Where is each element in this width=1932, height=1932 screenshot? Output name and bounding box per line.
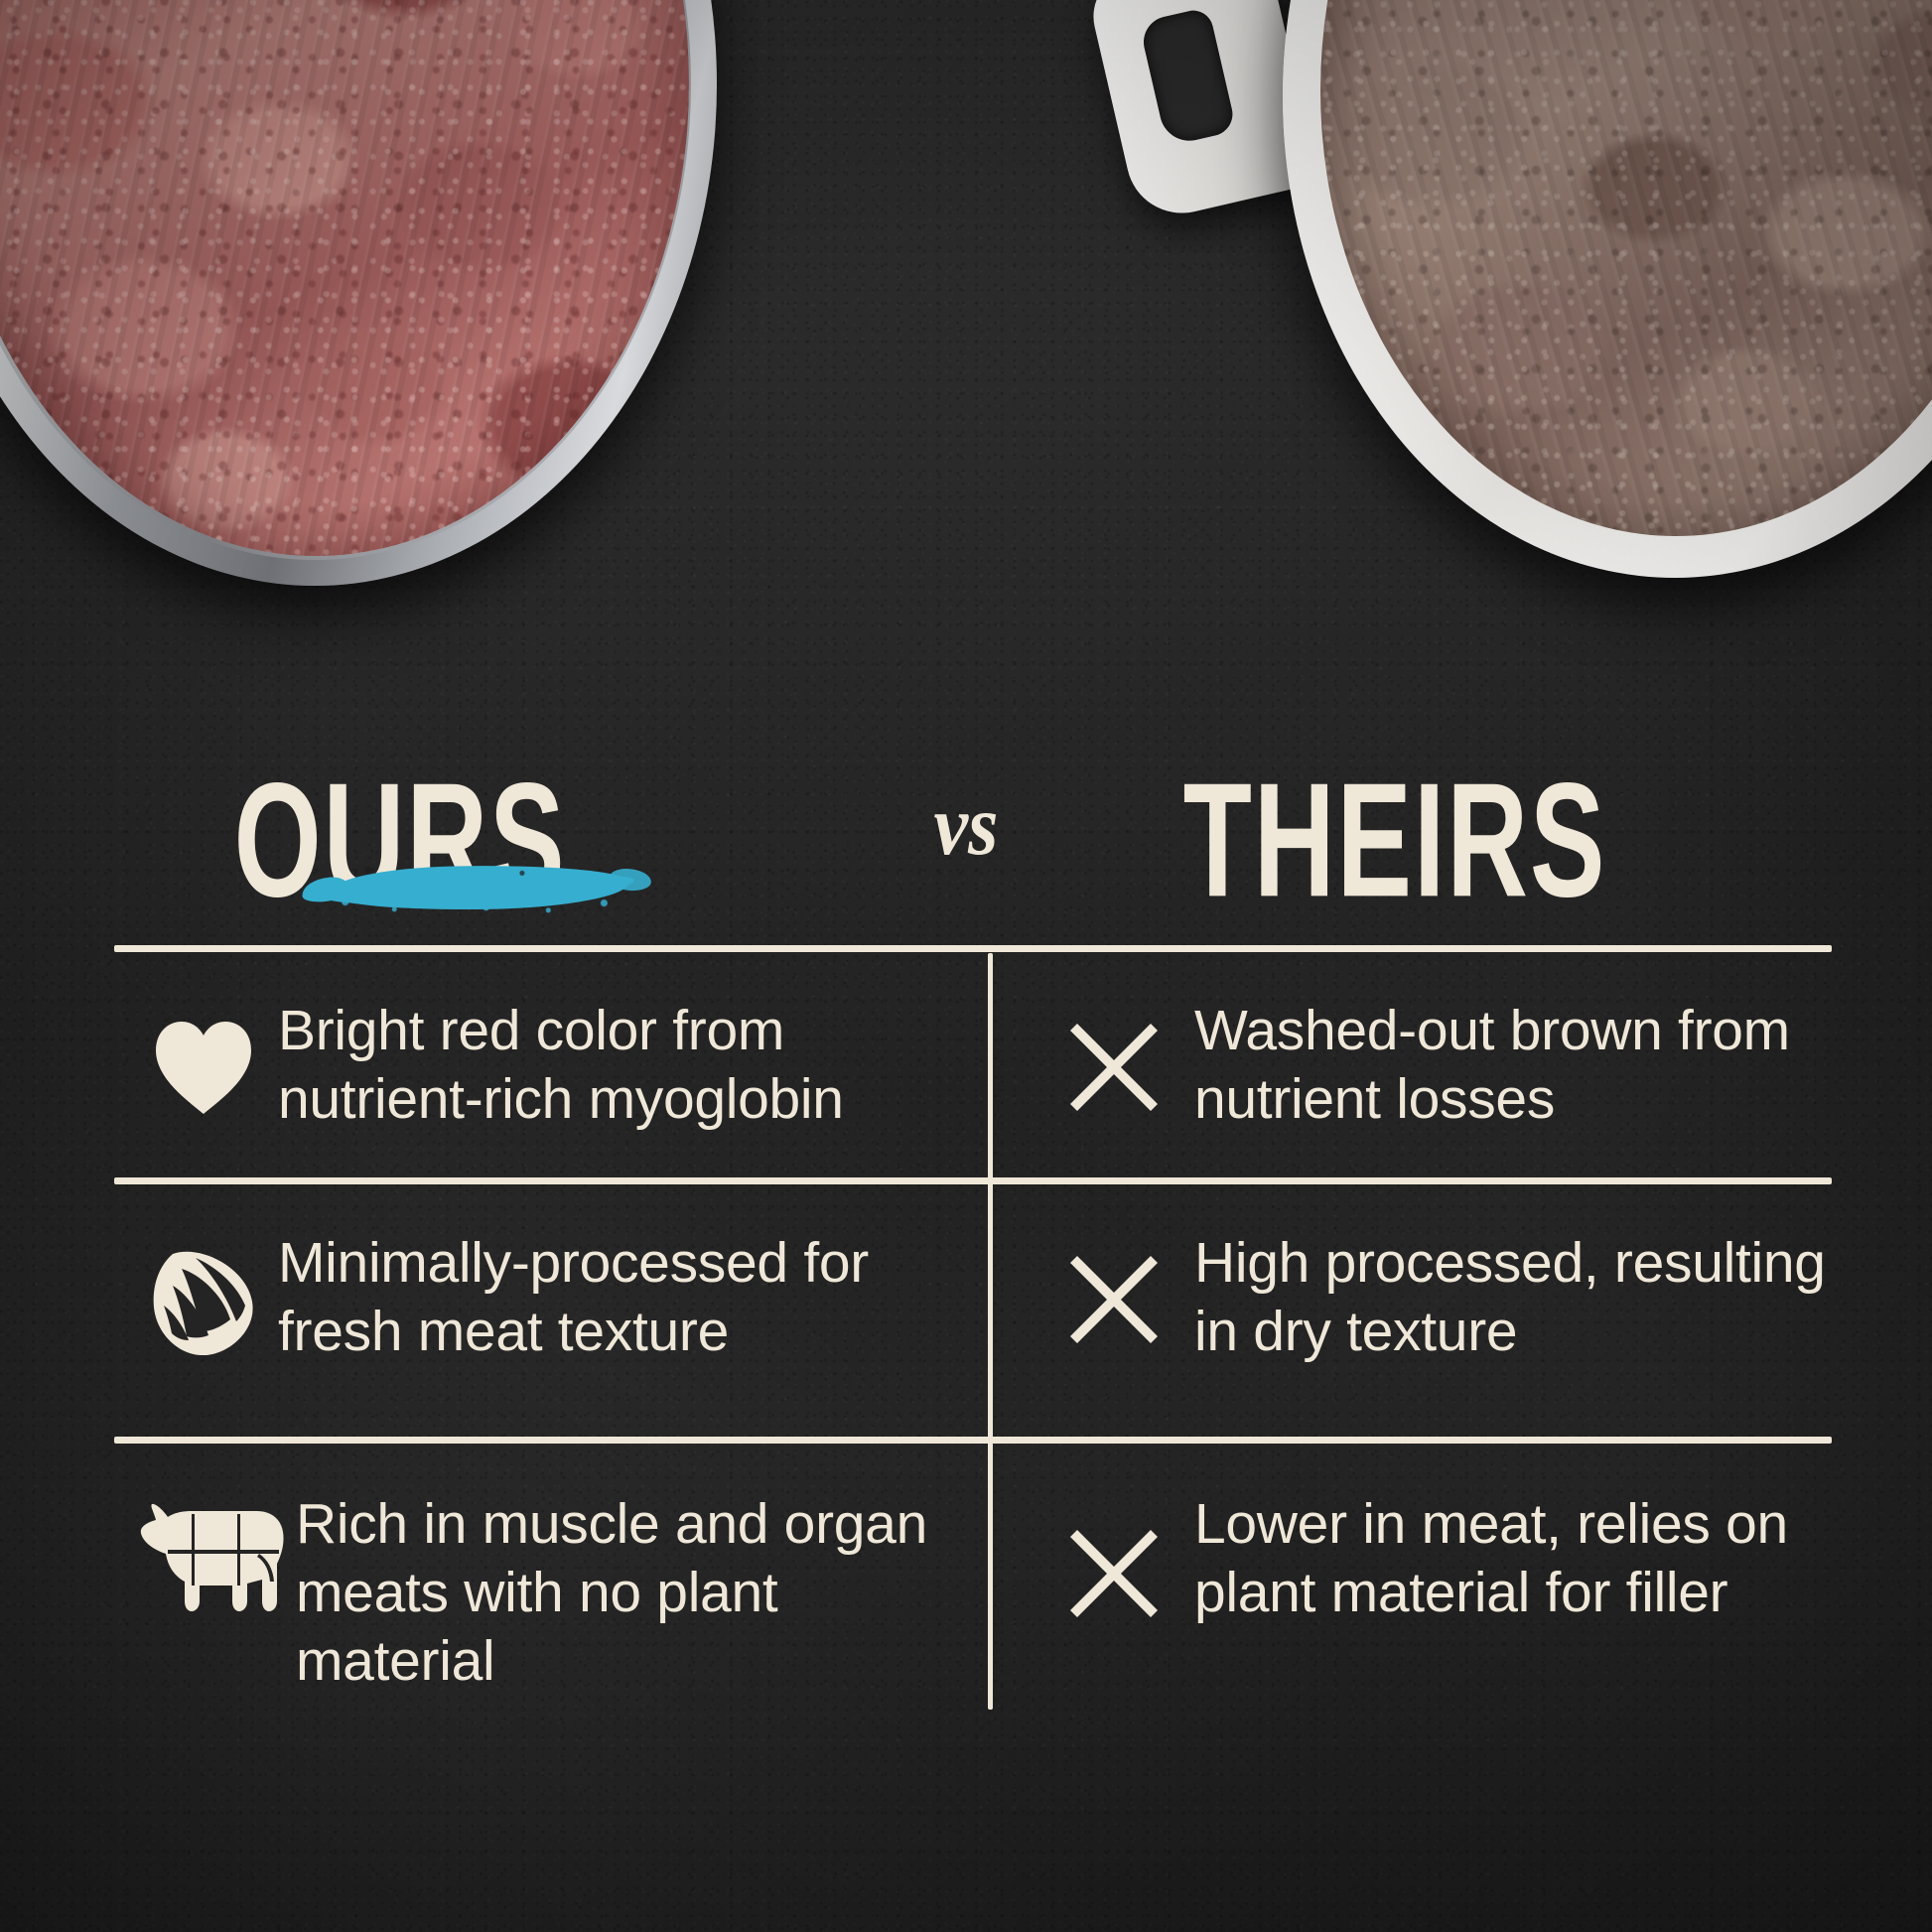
ours-cell-2: Minimally-processed for fresh meat textu…	[114, 1225, 988, 1374]
leaf-pod-icon	[129, 1225, 278, 1374]
theirs-text-3: Lower in meat, relies on plant material …	[1188, 1486, 1832, 1627]
theirs-text-2: High processed, resulting in dry texture	[1188, 1225, 1832, 1366]
ours-cell-3: Rich in muscle and organ meats with no p…	[114, 1486, 988, 1696]
theirs-cell-1: Washed-out brown from nutrient losses	[988, 993, 1832, 1142]
theirs-cell-2: High processed, resulting in dry texture	[988, 1225, 1832, 1374]
ours-text-2: Minimally-processed for fresh meat textu…	[278, 1225, 988, 1366]
theirs-title: THEIRS	[1035, 757, 1754, 924]
ours-text-1: Bright red color from nutrient-rich myog…	[278, 993, 988, 1134]
ours-text-3: Rich in muscle and organ meats with no p…	[296, 1486, 988, 1696]
comparison-infographic: OURS VS THEIRS Bright red color from nut…	[0, 0, 1932, 1932]
cow-icon	[129, 1486, 296, 1635]
heart-icon	[129, 993, 278, 1142]
x-icon	[1039, 993, 1188, 1142]
ours-cell-1: Bright red color from nutrient-rich myog…	[114, 993, 988, 1142]
headline-row: OURS VS THEIRS	[0, 757, 1932, 905]
row-divider-bottom	[114, 1437, 1832, 1444]
theirs-text-1: Washed-out brown from nutrient losses	[1188, 993, 1832, 1134]
table-row: Minimally-processed for fresh meat textu…	[114, 1225, 1832, 1374]
row-divider-middle	[114, 1177, 1832, 1184]
theirs-cell-3: Lower in meat, relies on plant material …	[988, 1486, 1832, 1696]
table-row: Rich in muscle and organ meats with no p…	[114, 1486, 1832, 1696]
x-icon	[1039, 1486, 1188, 1635]
table-row: Bright red color from nutrient-rich myog…	[114, 993, 1832, 1142]
x-icon	[1039, 1225, 1188, 1374]
row-divider-top	[114, 945, 1832, 952]
